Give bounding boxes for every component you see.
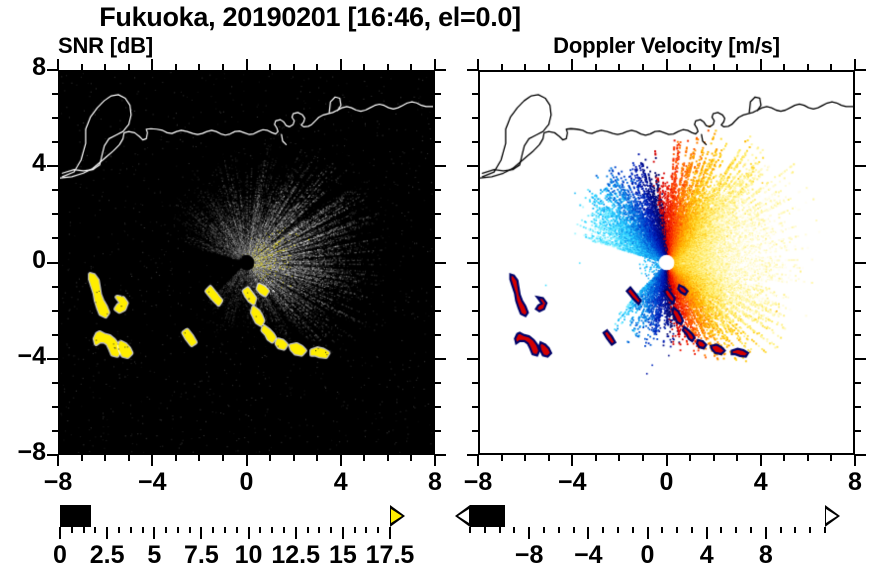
xtick-label: 4 <box>301 468 381 497</box>
colorbar-tick <box>189 527 191 533</box>
colorbar-tick <box>177 527 179 533</box>
xtick-bottom <box>760 455 762 466</box>
ytick-right <box>435 262 446 264</box>
colorbar-tick <box>330 527 332 533</box>
ytick-right <box>855 310 861 312</box>
ytick-left <box>472 310 478 312</box>
ytick-right <box>855 165 866 167</box>
xtick-top <box>760 59 762 70</box>
xtick-bottom <box>246 455 248 466</box>
ytick-right <box>435 165 446 167</box>
xtick-bottom <box>501 455 503 461</box>
ytick-right <box>435 213 441 215</box>
ytick-left <box>472 237 478 239</box>
colorbar-cell <box>88 507 89 525</box>
ytick-left <box>52 93 58 95</box>
colorbar-tick <box>735 527 737 533</box>
xtick-bottom <box>316 455 318 461</box>
ytick-right <box>435 69 446 71</box>
xtick-label: −8 <box>18 468 98 497</box>
ytick-right <box>855 93 861 95</box>
colorbar-tick-label: 8 <box>726 541 806 570</box>
xtick-top <box>316 64 318 70</box>
ytick-right <box>855 262 866 264</box>
colorbar-tick <box>720 527 722 533</box>
colorbar-tick <box>558 527 560 533</box>
xtick-top <box>548 64 550 70</box>
colorbar-tick <box>59 527 61 539</box>
xtick-bottom <box>783 455 785 461</box>
colorbar-tick <box>750 527 752 533</box>
xtick-bottom <box>340 455 342 466</box>
ytick-left <box>52 382 58 384</box>
ytick-right <box>435 189 441 191</box>
doppler-colorbar-gradient <box>470 505 505 527</box>
ytick-left <box>52 430 58 432</box>
xtick-top <box>81 64 83 70</box>
colorbar-tick <box>809 527 811 533</box>
colorbar-tick <box>389 527 391 539</box>
xtick-bottom <box>642 455 644 461</box>
colorbar-tick <box>307 527 309 533</box>
xtick-bottom <box>666 455 668 466</box>
colorbar-tick <box>236 527 238 533</box>
colorbar-tick <box>259 527 261 533</box>
xtick-bottom <box>854 455 856 466</box>
ytick-left <box>472 430 478 432</box>
ytick-right <box>855 141 861 143</box>
xtick-top <box>501 64 503 70</box>
xtick-top <box>783 64 785 70</box>
xtick-top <box>689 64 691 70</box>
xtick-bottom <box>548 455 550 461</box>
xtick-bottom <box>175 455 177 461</box>
ytick-left <box>472 189 478 191</box>
colorbar-tick <box>765 527 767 539</box>
ytick-right <box>855 189 861 191</box>
xtick-bottom <box>434 455 436 466</box>
snr-colorbar-over-arrow <box>390 505 405 527</box>
ytick-left <box>472 382 478 384</box>
colorbar-tick <box>780 527 782 533</box>
ytick-label: 0 <box>0 246 46 275</box>
colorbar-tick <box>377 527 379 533</box>
colorbar-tick <box>469 527 471 533</box>
ytick-left <box>52 406 58 408</box>
xtick-bottom <box>269 455 271 461</box>
colorbar-tick <box>71 527 73 533</box>
colorbar-tick <box>94 527 96 533</box>
ytick-left <box>472 213 478 215</box>
colorbar-tick <box>499 527 501 533</box>
ytick-left <box>47 165 58 167</box>
figure-suptitle: Fukuoka, 20190201 [16:46, el=0.0] <box>0 2 620 33</box>
ytick-left <box>472 117 478 119</box>
colorbar-tick <box>587 527 589 539</box>
xtick-label: 0 <box>627 468 707 497</box>
xtick-top <box>410 64 412 70</box>
colorbar-tick <box>295 527 297 539</box>
colorbar-tick <box>691 527 693 533</box>
xtick-top <box>222 64 224 70</box>
doppler-map-panel[interactable] <box>478 70 855 455</box>
xtick-top <box>524 64 526 70</box>
doppler-panel-title: Doppler Velocity [m/s] <box>478 33 855 59</box>
ytick-left <box>52 141 58 143</box>
xtick-bottom <box>151 455 153 466</box>
xtick-bottom <box>618 455 620 461</box>
ytick-right <box>855 286 861 288</box>
ytick-left <box>472 286 478 288</box>
ytick-label: −8 <box>0 438 46 467</box>
xtick-bottom <box>477 455 479 466</box>
xtick-bottom <box>104 455 106 461</box>
xtick-bottom <box>713 455 715 461</box>
colorbar-tick <box>342 527 344 539</box>
colorbar-tick <box>118 527 120 533</box>
xtick-top <box>666 59 668 70</box>
ytick-right <box>435 334 441 336</box>
xtick-bottom <box>595 455 597 461</box>
colorbar-tick-label: 17.5 <box>350 541 430 570</box>
ytick-right <box>855 454 866 456</box>
ytick-left <box>52 189 58 191</box>
colorbar-tick <box>632 527 634 533</box>
ytick-right <box>435 93 441 95</box>
colorbar-tick <box>676 527 678 533</box>
xtick-bottom <box>293 455 295 461</box>
xtick-label: −4 <box>112 468 192 497</box>
xtick-top <box>340 59 342 70</box>
xtick-top <box>595 64 597 70</box>
colorbar-tick <box>283 527 285 533</box>
xtick-bottom <box>571 455 573 466</box>
colorbar-tick <box>528 527 530 539</box>
xtick-bottom <box>524 455 526 461</box>
ytick-right <box>435 454 446 456</box>
colorbar-tick <box>602 527 604 533</box>
colorbar-tick <box>83 527 85 533</box>
doppler-radar-image <box>480 72 853 453</box>
xtick-top <box>104 64 106 70</box>
ytick-left <box>47 262 58 264</box>
ytick-right <box>855 117 861 119</box>
colorbar-tick <box>224 527 226 533</box>
ytick-right <box>435 406 441 408</box>
xtick-top <box>807 64 809 70</box>
ytick-left <box>467 69 478 71</box>
ytick-right <box>855 358 866 360</box>
ytick-right <box>855 382 861 384</box>
colorbar-tick <box>543 527 545 533</box>
doppler-colorbar-under-arrow <box>455 505 470 527</box>
colorbar-cell <box>502 507 503 525</box>
colorbar-tick <box>661 527 663 533</box>
colorbar-tick <box>573 527 575 533</box>
ytick-left <box>52 334 58 336</box>
colorbar-tick <box>794 527 796 533</box>
ytick-right <box>435 382 441 384</box>
xtick-bottom <box>81 455 83 461</box>
xtick-bottom <box>363 455 365 461</box>
ytick-left <box>467 454 478 456</box>
doppler-colorbar-over-arrow <box>825 505 840 527</box>
xtick-top <box>736 64 738 70</box>
ytick-label: 4 <box>0 149 46 178</box>
ytick-right <box>855 237 861 239</box>
snr-radar-image <box>60 72 433 453</box>
ytick-left <box>52 117 58 119</box>
ytick-right <box>435 430 441 432</box>
ytick-left <box>472 141 478 143</box>
xtick-bottom <box>736 455 738 461</box>
ytick-left <box>467 358 478 360</box>
colorbar-tick <box>271 527 273 533</box>
colorbar-tick <box>165 527 167 533</box>
ytick-right <box>435 141 441 143</box>
xtick-bottom <box>57 455 59 466</box>
xtick-top <box>713 64 715 70</box>
ytick-right <box>435 237 441 239</box>
xtick-bottom <box>222 455 224 461</box>
xtick-bottom <box>198 455 200 461</box>
ytick-right <box>855 213 861 215</box>
xtick-top <box>571 59 573 70</box>
colorbar-tick <box>106 527 108 539</box>
ytick-right <box>855 406 861 408</box>
colorbar-tick <box>647 527 649 539</box>
colorbar-tick <box>617 527 619 533</box>
xtick-top <box>269 64 271 70</box>
colorbar-tick <box>513 527 515 533</box>
ytick-left <box>467 262 478 264</box>
xtick-top <box>198 64 200 70</box>
ytick-right <box>855 334 861 336</box>
colorbar-tick <box>365 527 367 533</box>
xtick-bottom <box>128 455 130 461</box>
ytick-left <box>472 93 478 95</box>
ytick-left <box>47 69 58 71</box>
snr-colorbar-ticks <box>60 527 390 539</box>
xtick-bottom <box>410 455 412 461</box>
xtick-bottom <box>387 455 389 461</box>
colorbar-tick <box>248 527 250 539</box>
xtick-label: −8 <box>438 468 518 497</box>
colorbar-tick <box>318 527 320 533</box>
doppler-colorbar[interactable] <box>470 505 825 527</box>
ytick-right <box>855 430 861 432</box>
colorbar-tick <box>142 527 144 533</box>
snr-panel-title: SNR [dB] <box>58 33 435 59</box>
ytick-left <box>52 237 58 239</box>
colorbar-tick <box>130 527 132 533</box>
xtick-label: −4 <box>532 468 612 497</box>
radar-figure: Fukuoka, 20190201 [16:46, el=0.0] SNR [d… <box>0 0 870 570</box>
colorbar-tick <box>153 527 155 539</box>
ytick-right <box>435 286 441 288</box>
xtick-top <box>151 59 153 70</box>
xtick-top <box>830 64 832 70</box>
ytick-left <box>467 165 478 167</box>
colorbar-tick <box>824 527 826 533</box>
xtick-bottom <box>807 455 809 461</box>
ytick-label: 8 <box>0 53 46 82</box>
snr-map-panel[interactable] <box>58 70 435 455</box>
xtick-top <box>293 64 295 70</box>
ytick-left <box>52 286 58 288</box>
colorbar-tick <box>484 527 486 533</box>
ytick-left <box>47 454 58 456</box>
xtick-top <box>363 64 365 70</box>
xtick-top <box>642 64 644 70</box>
ytick-left <box>472 406 478 408</box>
snr-colorbar-gradient <box>60 505 91 527</box>
ytick-left <box>472 334 478 336</box>
ytick-label: −4 <box>0 342 46 371</box>
ytick-left <box>52 213 58 215</box>
colorbar-tick <box>354 527 356 533</box>
xtick-top <box>128 64 130 70</box>
ytick-right <box>855 69 866 71</box>
xtick-label: 0 <box>207 468 287 497</box>
xtick-label: 4 <box>721 468 801 497</box>
ytick-left <box>47 358 58 360</box>
xtick-top <box>618 64 620 70</box>
colorbar-tick <box>706 527 708 539</box>
colorbar-tick <box>200 527 202 539</box>
xtick-bottom <box>830 455 832 461</box>
xtick-label: 8 <box>815 468 870 497</box>
xtick-top <box>387 64 389 70</box>
ytick-right <box>435 310 441 312</box>
xtick-top <box>175 64 177 70</box>
ytick-left <box>52 310 58 312</box>
xtick-top <box>246 59 248 70</box>
snr-colorbar[interactable] <box>60 505 390 527</box>
doppler-colorbar-ticks <box>470 527 825 539</box>
ytick-right <box>435 358 446 360</box>
xtick-bottom <box>689 455 691 461</box>
ytick-right <box>435 117 441 119</box>
colorbar-tick <box>212 527 214 533</box>
